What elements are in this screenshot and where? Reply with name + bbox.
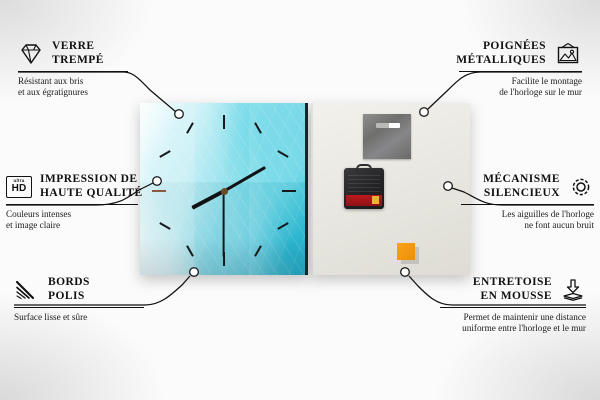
clock-back-panel <box>311 103 470 275</box>
feature-divider <box>18 71 128 72</box>
feature-description: Les aiguilles de l'horloge ne font aucun… <box>461 209 594 231</box>
infographic-canvas: VERRE TREMPÉ Résistant aux bris et aux é… <box>0 0 600 400</box>
feature-title: MÉCANISME SILENCIEUX <box>483 173 560 200</box>
clock-tick <box>282 190 296 192</box>
feature-divider <box>6 204 138 205</box>
feature-description: Facilite le montage de l'horloge sur le … <box>459 76 582 98</box>
feature-title: POIGNÉES MÉTALLIQUES <box>456 40 546 67</box>
feature-header: ENTRETOISE EN MOUSSE <box>440 276 586 303</box>
arrow-down-layers-icon <box>560 278 586 302</box>
gear-icon <box>568 175 594 199</box>
clock-tick <box>152 190 166 192</box>
clock-tick <box>223 115 225 129</box>
feature-header: VERRE TREMPÉ <box>18 40 128 67</box>
hanger-slot <box>376 123 400 128</box>
metal-hanger-plate <box>363 114 411 159</box>
clock-center-cap <box>221 188 228 195</box>
picture-frame-hanger-icon <box>554 42 582 66</box>
feature-title: BORDS POLIS <box>48 276 90 303</box>
feature-title: VERRE TREMPÉ <box>52 40 104 67</box>
feature-poignees-metalliques: POIGNÉES MÉTALLIQUES Facilite le montage… <box>459 40 582 98</box>
feature-title: IMPRESSION DE HAUTE QUALITÉ <box>40 173 143 200</box>
foam-spacer <box>397 243 415 260</box>
clock-front-face <box>140 103 308 275</box>
feature-divider <box>440 307 586 308</box>
battery <box>346 195 382 206</box>
polished-edges-icon <box>14 279 40 301</box>
feature-divider <box>461 204 594 205</box>
feature-bords-polis: BORDS POLIS Surface lisse et sûre <box>14 276 146 323</box>
feature-header: POIGNÉES MÉTALLIQUES <box>459 40 582 67</box>
feature-header: BORDS POLIS <box>14 276 146 303</box>
battery-terminal <box>372 196 379 204</box>
feature-description: Permet de maintenir une distance uniform… <box>440 312 586 334</box>
feature-entretoise-en-mousse: ENTRETOISE EN MOUSSE Permet de maintenir… <box>440 276 586 334</box>
mechanism-loop <box>356 164 372 171</box>
feature-verre-trempe: VERRE TREMPÉ Résistant aux bris et aux é… <box>18 40 128 98</box>
mechanism-grill <box>348 175 380 192</box>
feature-mecanisme-silencieux: MÉCANISME SILENCIEUX Les aiguilles de l'… <box>461 173 594 231</box>
feature-header: MÉCANISME SILENCIEUX <box>461 173 594 200</box>
feature-divider <box>14 307 144 308</box>
ultra-hd-badge-large-text: HD <box>12 184 27 194</box>
feature-divider <box>459 71 582 72</box>
feature-title: ENTRETOISE EN MOUSSE <box>473 276 552 303</box>
feature-impression-haute-qualite: ultra HD IMPRESSION DE HAUTE QUALITÉ Cou… <box>6 173 144 231</box>
feature-header: ultra HD IMPRESSION DE HAUTE QUALITÉ <box>6 173 144 200</box>
feature-description: Surface lisse et sûre <box>14 312 146 323</box>
feature-description: Résistant aux bris et aux égratignures <box>18 76 128 98</box>
feature-description: Couleurs intenses et image claire <box>6 209 144 231</box>
diamond-icon <box>18 43 44 65</box>
quartz-mechanism <box>344 168 384 209</box>
product-image <box>140 103 470 275</box>
ultra-hd-badge-icon: ultra HD <box>6 176 32 198</box>
